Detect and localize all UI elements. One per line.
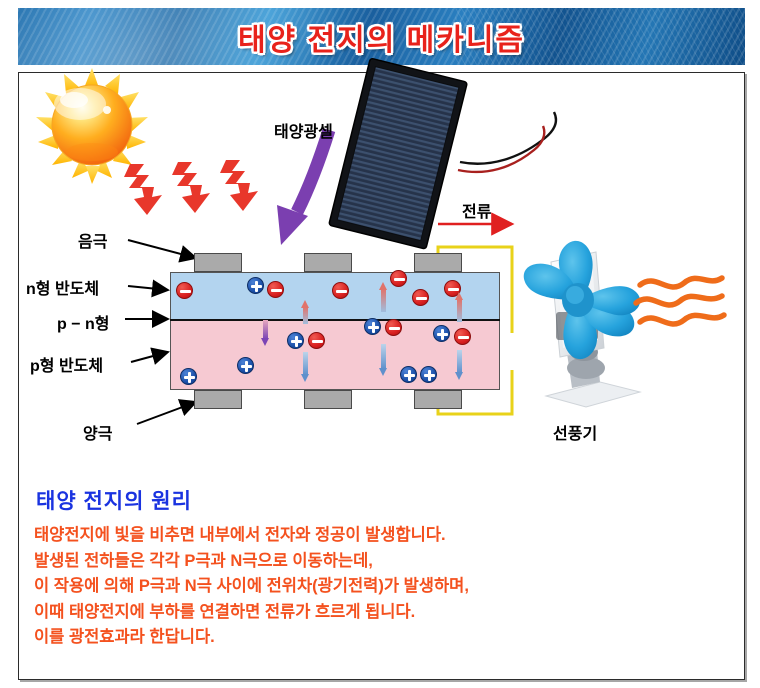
principle-line: 이를 광전효과라 한답니다.	[34, 625, 724, 651]
electron-charge-icon	[176, 282, 193, 299]
label-anode: 양극	[83, 420, 112, 444]
electron-charge-icon	[390, 270, 407, 287]
electron-charge-icon	[267, 281, 284, 298]
hole-charge-icon	[364, 318, 381, 335]
principle-line: 이 작용에 의해 P극과 N극 사이에 전위차(광기전력)가 발생하며,	[34, 574, 724, 600]
hole-charge-icon	[420, 366, 437, 383]
carrier-drift-arrow	[301, 352, 310, 382]
title-banner: 태양 전지의 메카니즘	[18, 8, 745, 65]
top-electrode-contact	[194, 253, 242, 272]
carrier-drift-arrow	[301, 300, 310, 324]
carrier-drift-arrow	[455, 292, 464, 322]
top-electrode-contact	[304, 253, 352, 272]
page-title: 태양 전지의 메카니즘	[18, 8, 745, 65]
electron-charge-icon	[454, 328, 471, 345]
label-fan: 선풍기	[553, 420, 597, 444]
hole-charge-icon	[287, 332, 304, 349]
bottom-electrode-contact	[194, 390, 242, 409]
principle-line: 이때 태양전지에 부하를 연결하면 전류가 흐르게 됩니다.	[34, 600, 724, 626]
carrier-drift-arrow	[379, 344, 388, 376]
principle-body-text: 태양전지에 빛을 비추면 내부에서 전자와 정공이 발생합니다.발생된 전하들은…	[34, 523, 724, 651]
principle-heading: 태양 전지의 원리	[36, 485, 192, 515]
label-current: 전류	[462, 198, 491, 222]
carrier-drift-arrow	[379, 282, 388, 312]
electron-charge-icon	[308, 332, 325, 349]
label-solar-cell: 태양광셀	[274, 118, 333, 142]
slide-page: 태양 전지의 메카니즘	[0, 0, 760, 688]
pn-junction-line	[170, 319, 500, 321]
label-p-type: p형 반도체	[30, 352, 103, 376]
principle-line: 발생된 전하들은 각각 P극과 N극으로 이동하는데,	[34, 549, 724, 575]
carrier-drift-arrow	[455, 350, 464, 380]
carrier-drift-arrow	[261, 320, 270, 346]
label-pn-junction: p − n형	[57, 310, 110, 334]
top-electrode-contact	[414, 253, 462, 272]
hole-charge-icon	[247, 277, 264, 294]
hole-charge-icon	[180, 368, 197, 385]
electron-charge-icon	[332, 282, 349, 299]
principle-line: 태양전지에 빛을 비추면 내부에서 전자와 정공이 발생합니다.	[34, 523, 724, 549]
hole-charge-icon	[433, 325, 450, 342]
electron-charge-icon	[385, 319, 402, 336]
bottom-electrode-contact	[414, 390, 462, 409]
electron-charge-icon	[412, 289, 429, 306]
hole-charge-icon	[400, 366, 417, 383]
label-n-type: n형 반도체	[26, 275, 99, 299]
label-cathode: 음극	[78, 228, 107, 252]
hole-charge-icon	[237, 357, 254, 374]
bottom-electrode-contact	[304, 390, 352, 409]
p-type-layer	[170, 320, 500, 390]
